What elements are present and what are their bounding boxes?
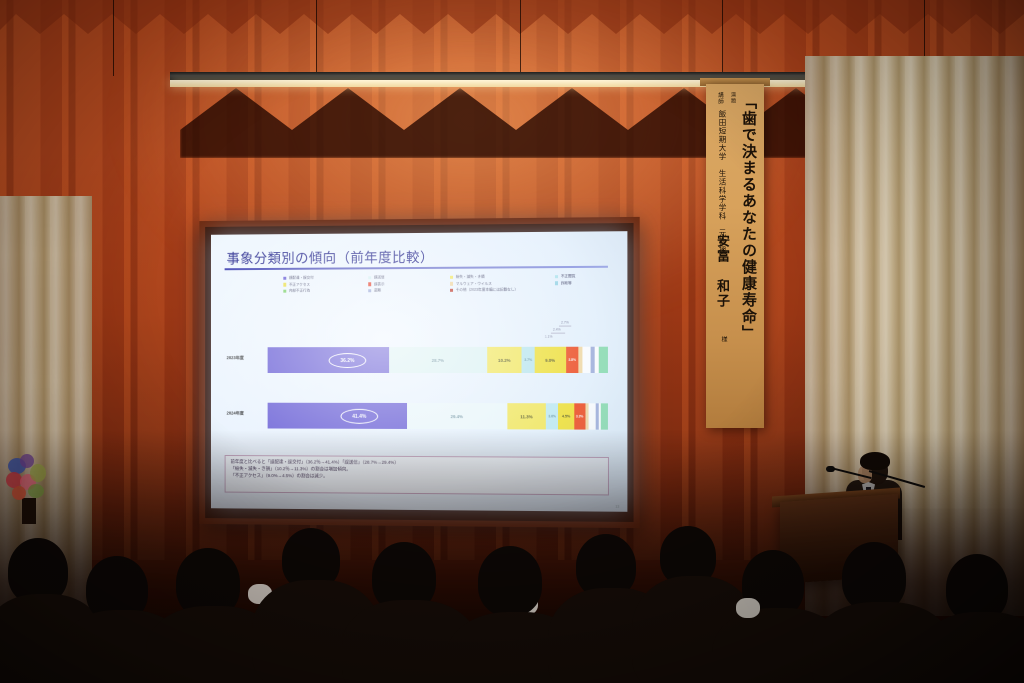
bar-segment: [589, 403, 596, 429]
highlight-ellipse-2024: 41.4%: [340, 409, 378, 424]
legend-item: 詐欺等: [555, 280, 618, 285]
banner-lecturer-label: 講師: [716, 92, 724, 105]
legend-item: 誤配達・誤交付: [283, 275, 364, 280]
bar-row-label-2024: 2024年度: [227, 411, 244, 417]
legend-swatch: [283, 290, 286, 293]
legend-swatch: [368, 283, 371, 286]
bar-segment: 3.8%: [566, 347, 579, 373]
bar-segment: 28.7%: [389, 347, 487, 373]
event-banner: 演題 「歯で決まるあなたの健康寿命」 講師 飯田短期大学 生活科学学科 元教授 …: [706, 84, 764, 428]
legend-item: 不正アクセス: [283, 282, 364, 287]
legend-item: 盗難: [368, 288, 446, 293]
legend-label: 盗難: [374, 288, 381, 293]
legend-label: マルウェア・ウイルス: [456, 281, 492, 286]
legend-item: 誤送信: [368, 275, 446, 280]
legend-label: 不正閲覧: [561, 274, 576, 279]
audience: [0, 520, 1024, 683]
chart-legend: 誤配達・誤交付 誤送信 紛失・滅失・き損 不正閲覧 不正アクセス 誤表示 マルウ…: [283, 274, 614, 294]
callout-label: 2.7%: [561, 321, 569, 325]
bar-segment: [599, 347, 608, 373]
legend-swatch: [368, 289, 371, 292]
bar-segment: 10.2%: [487, 347, 522, 373]
bar-2024: 29.4% 11.3% 3.6% 4.5% 3.3%: [268, 403, 608, 430]
callout-label: 2.4%: [553, 328, 561, 332]
legend-label: 詐欺等: [561, 281, 572, 286]
banner-speaker-name: 安富 和子: [712, 234, 731, 309]
legend-swatch: [450, 282, 453, 285]
bar-segment: 3.7%: [522, 347, 535, 373]
bar-segment: 3.6%: [546, 403, 558, 429]
legend-swatch: [283, 277, 286, 280]
banner-honorific: 様: [719, 336, 728, 342]
callout-leader-line: [559, 326, 571, 327]
legend-swatch: [283, 283, 286, 286]
flower-arrangement: [6, 452, 62, 522]
bar-segment: [268, 403, 407, 429]
slide-title: 事象分類別の傾向（前年度比較）: [227, 246, 434, 267]
bar-segment: [583, 347, 591, 373]
light-wire: [722, 0, 723, 76]
legend-swatch: [450, 276, 453, 279]
light-wire: [113, 0, 114, 76]
legend-label: その他（2023年度本編には記載なし）: [456, 287, 518, 292]
banner-topic-title: 「歯で決まるあなたの健康寿命」: [741, 94, 756, 342]
callout-label: 1.1%: [545, 335, 553, 339]
legend-item: 紛失・滅失・き損: [450, 274, 551, 280]
legend-label: 誤送信: [374, 275, 385, 280]
face-mask: [736, 598, 760, 618]
audience-head: [478, 546, 542, 616]
legend-item: マルウェア・ウイルス: [450, 281, 551, 287]
legend-label: 誤配達・誤交付: [289, 276, 314, 281]
banner-affiliation: 飯田短期大学 生活科学学科 元教授: [718, 110, 726, 255]
legend-label: 不正アクセス: [289, 282, 310, 287]
legend-item: 不正閲覧: [555, 274, 618, 279]
banner-topic-label: 演題: [730, 92, 737, 104]
photo-scene: 事象分類別の傾向（前年度比較） 誤配達・誤交付 誤送信 紛失・滅失・き損 不正閲…: [0, 0, 1024, 683]
bar-segment: [601, 403, 608, 429]
legend-swatch: [450, 289, 453, 292]
legend-item: 内部不正行為: [283, 288, 364, 293]
bar-2023: 28.7% 10.2% 3.7% 9.0% 3.8%: [268, 347, 608, 373]
legend-swatch: [555, 275, 558, 278]
highlight-ellipse-2023: 36.2%: [329, 353, 367, 368]
bar-segment: 3.3%: [574, 403, 585, 429]
stacked-bar-chart: 2.7% 2.4% 1.1% 2023年度 28.7% 10.2% 3.7% 9…: [225, 320, 615, 439]
bar-segment: 9.0%: [535, 347, 566, 373]
bar-segment: 11.3%: [507, 403, 546, 429]
legend-label: 誤表示: [374, 282, 385, 287]
legend-label: 紛失・滅失・き損: [456, 275, 485, 280]
legend-item: その他（2023年度本編には記載なし）: [450, 287, 618, 293]
bar-segment: 29.4%: [407, 403, 507, 429]
light-wire: [520, 0, 521, 76]
legend-swatch: [555, 282, 558, 285]
legend-label: 内部不正行為: [289, 289, 310, 294]
legend-swatch: [368, 276, 371, 279]
legend-item: 誤表示: [368, 281, 446, 286]
bar-row-label-2023: 2023年度: [227, 355, 244, 361]
bar-segment: 4.5%: [558, 403, 574, 429]
light-wire: [316, 0, 317, 76]
callout-leader-line: [551, 333, 565, 334]
